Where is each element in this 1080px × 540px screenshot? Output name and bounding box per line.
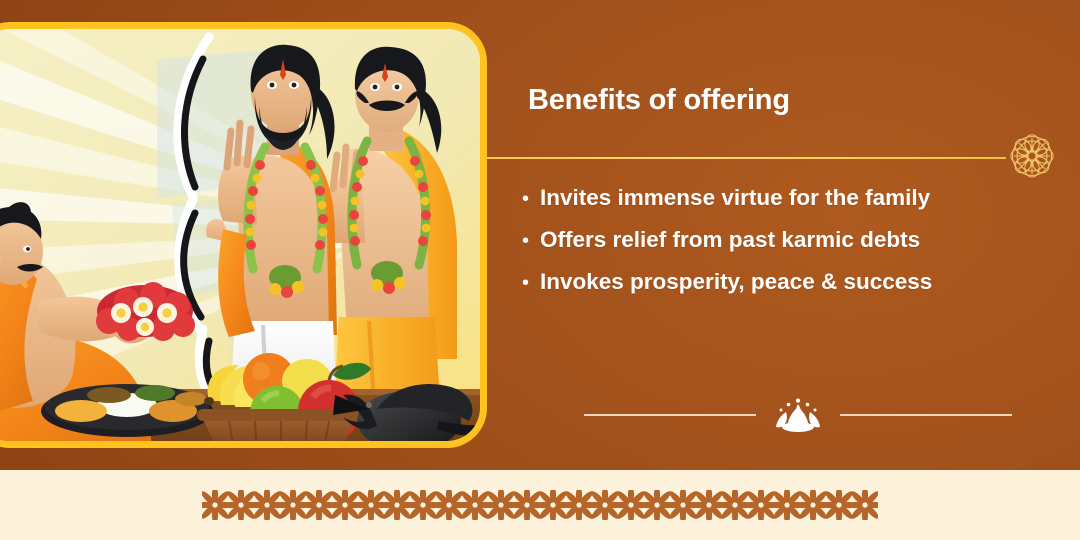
divider-line-left — [584, 414, 756, 416]
gold-divider-rule — [487, 157, 1006, 159]
eight-petal-flower-icon — [566, 490, 592, 520]
eight-petal-flower-icon — [748, 490, 774, 520]
eight-petal-flower-icon — [696, 490, 722, 520]
lotus-divider — [584, 398, 1012, 432]
eight-petal-flower-icon — [826, 490, 852, 520]
eight-petal-flower-icon — [514, 490, 540, 520]
eight-petal-flower-icon — [592, 490, 618, 520]
divider-line-right — [840, 414, 1012, 416]
eight-petal-flower-icon — [436, 490, 462, 520]
eight-petal-flower-icon — [800, 490, 826, 520]
eight-petal-flower-icon — [358, 490, 384, 520]
eight-petal-flower-icon — [722, 490, 748, 520]
bullet-marker-icon: • — [522, 273, 540, 293]
offering-illustration — [0, 29, 480, 441]
eight-petal-flower-icon — [488, 490, 514, 520]
eight-petal-flower-icon — [774, 490, 800, 520]
eight-petal-flower-icon — [410, 490, 436, 520]
bottom-decorative-band — [0, 470, 1080, 540]
benefits-list: • Invites immense virtue for the family … — [522, 185, 1040, 311]
eight-petal-flower-icon — [384, 490, 410, 520]
image-card — [0, 22, 487, 448]
list-item-label: Invites immense virtue for the family — [540, 185, 930, 211]
page-title: Benefits of offering — [528, 84, 790, 117]
eight-petal-flower-icon — [462, 490, 488, 520]
list-item-label: Offers relief from past karmic debts — [540, 227, 920, 253]
eight-petal-flower-icon — [852, 490, 878, 520]
eight-petal-flower-icon — [540, 490, 566, 520]
list-item: • Offers relief from past karmic debts — [522, 227, 1040, 253]
eight-petal-flower-icon — [254, 490, 280, 520]
eight-petal-flower-icon — [306, 490, 332, 520]
eight-petal-flower-icon — [332, 490, 358, 520]
flower-border-strip — [0, 488, 1080, 522]
eight-petal-flower-icon — [280, 490, 306, 520]
eight-petal-flower-icon — [228, 490, 254, 520]
eight-petal-flower-icon — [618, 490, 644, 520]
eight-petal-flower-icon — [644, 490, 670, 520]
content-column: Benefits of offering — [500, 0, 1080, 470]
mandala-rosette-icon — [1006, 130, 1058, 182]
list-item: • Invites immense virtue for the family — [522, 185, 1040, 211]
bullet-marker-icon: • — [522, 189, 540, 209]
slide-canvas: Benefits of offering — [0, 0, 1080, 540]
eight-petal-flower-icon — [670, 490, 696, 520]
list-item-label: Invokes prosperity, peace & success — [540, 269, 932, 295]
card-artwork — [0, 29, 480, 441]
eight-petal-flower-icon — [202, 490, 228, 520]
lotus-flower-icon — [770, 398, 826, 432]
list-item: • Invokes prosperity, peace & success — [522, 269, 1040, 295]
bullet-marker-icon: • — [522, 231, 540, 251]
